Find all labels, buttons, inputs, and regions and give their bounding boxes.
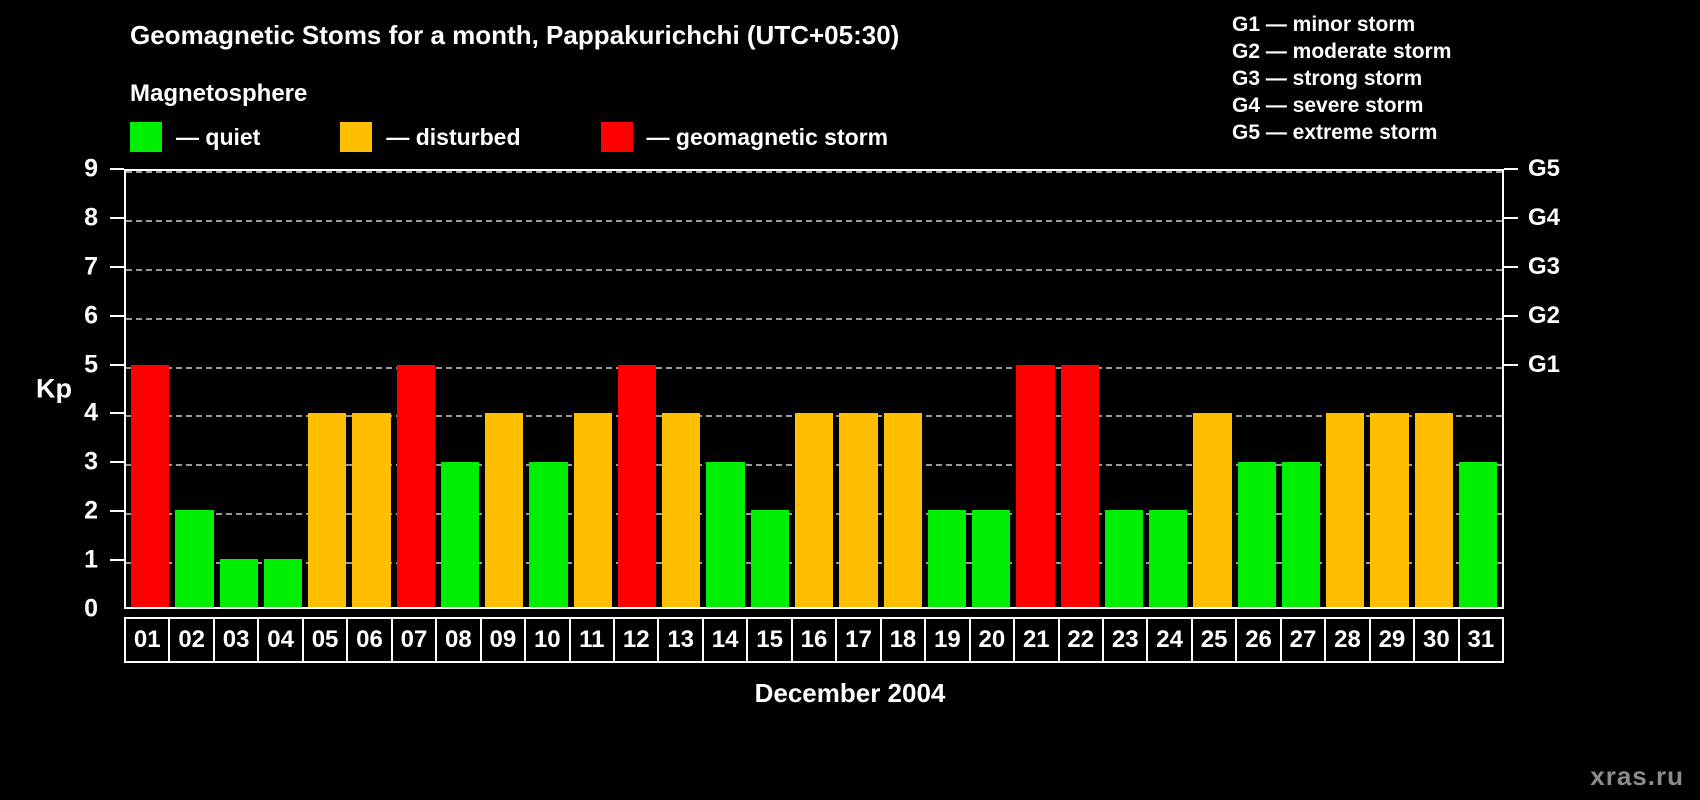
bar-cell-day-29[interactable] — [1367, 171, 1411, 607]
x-label-day-20[interactable]: 20 — [971, 619, 1015, 661]
y-tick-label-8: 8 — [84, 203, 98, 232]
y-tick-mark-8 — [110, 217, 124, 219]
x-label-day-11[interactable]: 11 — [571, 619, 615, 661]
magnetosphere-label: Magnetosphere — [130, 80, 307, 108]
bar-day-11[interactable] — [574, 413, 612, 607]
x-label-day-13[interactable]: 13 — [659, 619, 703, 661]
x-axis-day-labels: 0102030405060708091011121314151617181920… — [124, 617, 1504, 663]
g-scale-legend: G1 — minor stormG2 — moderate stormG3 — … — [1232, 11, 1451, 146]
x-label-day-15[interactable]: 15 — [748, 619, 792, 661]
x-label-day-28[interactable]: 28 — [1326, 619, 1370, 661]
x-label-day-26[interactable]: 26 — [1237, 619, 1281, 661]
legend-item-quiet: — quiet — [130, 122, 260, 152]
y-axis: Kp 0123456789 — [0, 169, 124, 609]
bar-cell-day-22[interactable] — [1058, 171, 1102, 607]
x-label-day-29[interactable]: 29 — [1371, 619, 1415, 661]
bar-day-12[interactable] — [618, 365, 656, 607]
y-tick-label-2: 2 — [84, 497, 98, 526]
bar-cell-day-12[interactable] — [615, 171, 659, 607]
g-scale-line-5: G5 — extreme storm — [1232, 119, 1451, 146]
bar-day-24[interactable] — [1149, 510, 1187, 607]
bar-cell-day-10[interactable] — [526, 171, 570, 607]
bar-day-26[interactable] — [1238, 462, 1276, 607]
bar-cell-day-16[interactable] — [792, 171, 836, 607]
legend-item-geomagnetic-storm: — geomagnetic storm — [601, 122, 889, 152]
y-tick-label-7: 7 — [84, 252, 98, 281]
g-scale-line-2: G2 — moderate storm — [1232, 38, 1451, 65]
x-label-day-07[interactable]: 07 — [393, 619, 437, 661]
x-label-day-16[interactable]: 16 — [793, 619, 837, 661]
bar-day-25[interactable] — [1193, 413, 1231, 607]
x-label-day-14[interactable]: 14 — [704, 619, 748, 661]
y-tick-mark-7 — [110, 266, 124, 268]
x-label-day-04[interactable]: 04 — [259, 619, 303, 661]
bar-cell-day-25[interactable] — [1190, 171, 1234, 607]
x-label-day-03[interactable]: 03 — [215, 619, 259, 661]
y-tick-label-0: 0 — [84, 595, 98, 624]
bar-day-21[interactable] — [1016, 365, 1054, 607]
x-label-day-25[interactable]: 25 — [1193, 619, 1237, 661]
bar-cell-day-13[interactable] — [659, 171, 703, 607]
watermark: xras.ru — [1590, 761, 1684, 792]
y-axis-title: Kp — [36, 374, 72, 405]
legend-swatch-quiet — [130, 122, 162, 152]
legend-label-quiet: — quiet — [176, 124, 260, 151]
bar-day-16[interactable] — [795, 413, 833, 607]
bar-cell-day-08[interactable] — [438, 171, 482, 607]
bar-cell-day-02[interactable] — [172, 171, 216, 607]
x-label-day-22[interactable]: 22 — [1060, 619, 1104, 661]
g-scale-line-3: G3 — strong storm — [1232, 65, 1451, 92]
legend-label-geomagnetic-storm: — geomagnetic storm — [647, 124, 889, 151]
legend-item-disturbed: — disturbed — [340, 122, 520, 152]
y-tick-label-4: 4 — [84, 399, 98, 428]
bar-cell-day-04[interactable] — [261, 171, 305, 607]
x-label-day-02[interactable]: 02 — [170, 619, 214, 661]
bar-day-09[interactable] — [485, 413, 523, 607]
bar-cell-day-11[interactable] — [571, 171, 615, 607]
bar-day-22[interactable] — [1061, 365, 1099, 607]
bar-cell-day-24[interactable] — [1146, 171, 1190, 607]
g-tick-mark-G1 — [1504, 364, 1518, 366]
bar-cell-day-23[interactable] — [1102, 171, 1146, 607]
x-label-day-27[interactable]: 27 — [1282, 619, 1326, 661]
bar-cell-day-20[interactable] — [969, 171, 1013, 607]
bar-day-01[interactable] — [131, 365, 169, 607]
x-axis-title: December 2004 — [0, 678, 1700, 709]
bar-series — [126, 171, 1502, 607]
bar-day-20[interactable] — [972, 510, 1010, 607]
y-tick-label-1: 1 — [84, 546, 98, 575]
y-tick-mark-3 — [110, 461, 124, 463]
g-scale-line-1: G1 — minor storm — [1232, 11, 1451, 38]
bar-day-23[interactable] — [1105, 510, 1143, 607]
y-tick-mark-2 — [110, 510, 124, 512]
plot-area — [124, 169, 1504, 609]
x-label-day-06[interactable]: 06 — [348, 619, 392, 661]
bar-day-15[interactable] — [751, 510, 789, 607]
page-title: Geomagnetic Stoms for a month, Pappakuri… — [130, 20, 899, 51]
bar-cell-day-05[interactable] — [305, 171, 349, 607]
x-label-day-21[interactable]: 21 — [1015, 619, 1059, 661]
g-tick-mark-G3 — [1504, 266, 1518, 268]
bar-cell-day-21[interactable] — [1013, 171, 1057, 607]
bar-cell-day-31[interactable] — [1456, 171, 1500, 607]
y-tick-mark-6 — [110, 315, 124, 317]
bar-cell-day-26[interactable] — [1235, 171, 1279, 607]
bar-day-30[interactable] — [1415, 413, 1453, 607]
bar-cell-day-06[interactable] — [349, 171, 393, 607]
bar-day-07[interactable] — [397, 365, 435, 607]
y-tick-label-9: 9 — [84, 155, 98, 184]
bar-cell-day-18[interactable] — [881, 171, 925, 607]
x-label-day-05[interactable]: 05 — [304, 619, 348, 661]
x-label-day-12[interactable]: 12 — [615, 619, 659, 661]
x-label-day-08[interactable]: 08 — [437, 619, 481, 661]
g-scale-line-4: G4 — severe storm — [1232, 92, 1451, 119]
bar-day-02[interactable] — [175, 510, 213, 607]
x-label-day-17[interactable]: 17 — [837, 619, 881, 661]
bar-day-05[interactable] — [308, 413, 346, 607]
bar-day-18[interactable] — [884, 413, 922, 607]
y-tick-mark-1 — [110, 559, 124, 561]
x-label-day-24[interactable]: 24 — [1148, 619, 1192, 661]
bar-cell-day-27[interactable] — [1279, 171, 1323, 607]
bar-day-19[interactable] — [928, 510, 966, 607]
g-tick-label-G5: G5 — [1528, 155, 1560, 183]
g-tick-label-G2: G2 — [1528, 302, 1560, 330]
g-tick-mark-G5 — [1504, 168, 1518, 170]
bar-cell-day-03[interactable] — [217, 171, 261, 607]
bar-cell-day-19[interactable] — [925, 171, 969, 607]
bar-cell-day-28[interactable] — [1323, 171, 1367, 607]
legend-swatch-geomagnetic-storm — [601, 122, 633, 152]
x-label-day-01[interactable]: 01 — [126, 619, 170, 661]
bar-day-06[interactable] — [352, 413, 390, 607]
x-label-day-23[interactable]: 23 — [1104, 619, 1148, 661]
g-tick-mark-G2 — [1504, 315, 1518, 317]
bar-day-13[interactable] — [662, 413, 700, 607]
g-tick-label-G3: G3 — [1528, 253, 1560, 281]
y-tick-mark-4 — [110, 412, 124, 414]
legend-swatch-disturbed — [340, 122, 372, 152]
x-label-day-09[interactable]: 09 — [482, 619, 526, 661]
bar-cell-day-14[interactable] — [703, 171, 747, 607]
bar-cell-day-17[interactable] — [836, 171, 880, 607]
x-label-day-19[interactable]: 19 — [926, 619, 970, 661]
bar-day-04[interactable] — [264, 559, 302, 607]
bar-day-28[interactable] — [1326, 413, 1364, 607]
bar-cell-day-15[interactable] — [748, 171, 792, 607]
bar-day-10[interactable] — [529, 462, 567, 607]
bar-day-08[interactable] — [441, 462, 479, 607]
x-label-day-31[interactable]: 31 — [1460, 619, 1502, 661]
legend: — quiet— disturbed— geomagnetic storm — [130, 122, 968, 152]
y-tick-label-6: 6 — [84, 301, 98, 330]
y-tick-mark-9 — [110, 168, 124, 170]
y-tick-mark-5 — [110, 364, 124, 366]
bar-day-03[interactable] — [220, 559, 258, 607]
y-tick-label-3: 3 — [84, 448, 98, 477]
x-label-day-18[interactable]: 18 — [882, 619, 926, 661]
x-label-day-30[interactable]: 30 — [1415, 619, 1459, 661]
y-tick-label-5: 5 — [84, 350, 98, 379]
bar-cell-day-07[interactable] — [394, 171, 438, 607]
bar-cell-day-09[interactable] — [482, 171, 526, 607]
bar-day-17[interactable] — [839, 413, 877, 607]
legend-label-disturbed: — disturbed — [386, 124, 520, 151]
x-label-day-10[interactable]: 10 — [526, 619, 570, 661]
g-tick-label-G1: G1 — [1528, 351, 1560, 379]
bar-day-27[interactable] — [1282, 462, 1320, 607]
g-tick-label-G4: G4 — [1528, 204, 1560, 232]
bar-cell-day-01[interactable] — [128, 171, 172, 607]
bar-day-14[interactable] — [706, 462, 744, 607]
g-tick-mark-G4 — [1504, 217, 1518, 219]
bar-cell-day-30[interactable] — [1412, 171, 1456, 607]
bar-day-29[interactable] — [1370, 413, 1408, 607]
bar-day-31[interactable] — [1459, 462, 1497, 607]
g-axis: G1G2G3G4G5 — [1504, 169, 1624, 609]
